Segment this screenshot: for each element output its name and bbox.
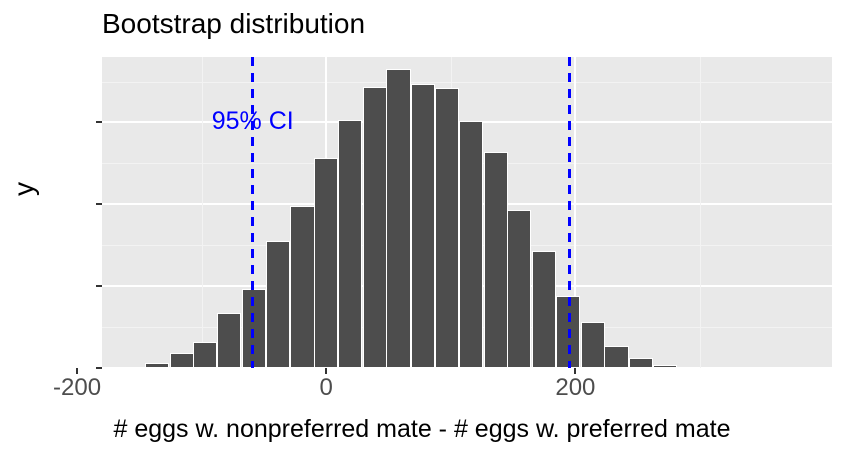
histogram-bar [411, 84, 435, 368]
x-tick-label: 0 [320, 374, 333, 402]
histogram-bar [121, 367, 145, 368]
histogram-bar [266, 241, 290, 368]
histogram-bar [435, 88, 459, 368]
ci-lower-line [251, 57, 254, 368]
y-axis-tick [96, 367, 102, 369]
gridline-x-minor [700, 57, 701, 368]
plot-panel: 95% CI [102, 57, 832, 368]
histogram-bar [581, 322, 605, 368]
histogram-bar [459, 121, 483, 368]
histogram-bar [386, 69, 410, 368]
histogram-bar [290, 206, 314, 368]
page-title: Bootstrap distribution [102, 6, 365, 41]
histogram-bar [653, 365, 677, 368]
histogram-bar [484, 152, 508, 368]
chart-root: Bootstrap distribution y 0300600900 95% … [0, 0, 844, 460]
gridline-y-minor [102, 82, 832, 83]
histogram-bar [145, 363, 169, 368]
x-axis-title: # eggs w. nonpreferred mate - # eggs w. … [0, 415, 844, 444]
y-axis-tick [96, 285, 102, 287]
histogram-bar [363, 87, 387, 368]
ci-annotation-label: 95% CI [212, 109, 294, 134]
histogram-bar [629, 358, 653, 368]
ci-upper-line [568, 57, 571, 368]
y-axis-tick [96, 121, 102, 123]
x-tick-label: -200 [53, 374, 101, 402]
histogram-bar [507, 210, 531, 368]
y-axis-tick [96, 203, 102, 205]
histogram-bar [338, 120, 362, 368]
gridline-x-minor [202, 57, 203, 368]
histogram-bar [532, 251, 556, 368]
histogram-bar [193, 342, 217, 368]
histogram-bar [314, 158, 338, 368]
histogram-bar [604, 346, 628, 368]
histogram-bar [170, 353, 194, 368]
x-tick-label: 200 [555, 374, 595, 402]
histogram-bar [217, 313, 241, 368]
